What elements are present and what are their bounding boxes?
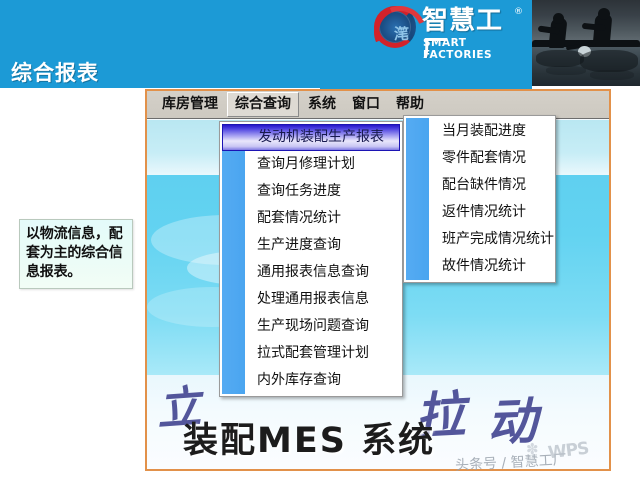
bottom-white-strip xyxy=(0,471,640,480)
menu-item-label: 配台缺件情况 xyxy=(442,177,526,193)
menu-item-label: 故件情况统计 xyxy=(442,258,526,274)
menu-item-production-progress[interactable]: 生产进度查询 xyxy=(222,232,400,259)
rower-left-head-icon xyxy=(553,13,564,24)
menu-item-label: 零件配套情况 xyxy=(442,150,526,166)
menu-item-pull-kitting-plan[interactable]: 拉式配套管理计划 xyxy=(222,340,400,367)
page-title: 综合报表 xyxy=(11,60,99,87)
menu-item-label: 发动机装配生产报表 xyxy=(258,129,384,145)
menu-item-label: 生产现场问题查询 xyxy=(257,318,369,334)
menu-item-label: 查询月修理计划 xyxy=(257,156,355,172)
menu-item-kitting-statistics[interactable]: 配套情况统计 xyxy=(222,205,400,232)
water-reflection xyxy=(536,50,584,67)
app-footer-title: 装配MES 系统 xyxy=(183,421,435,461)
menu-item-label: 内外库存查询 xyxy=(257,372,341,388)
menubar-item-warehouse[interactable]: 库房管理 xyxy=(155,93,225,116)
submenu-item-station-shortage-status[interactable]: 配台缺件情况 xyxy=(406,172,553,199)
menu-item-label: 拉式配套管理计划 xyxy=(257,345,369,361)
water-reflection xyxy=(546,66,586,75)
menu-item-inventory-query[interactable]: 内外库存查询 xyxy=(222,367,400,394)
menu-item-label: 处理通用报表信息 xyxy=(257,291,369,307)
rower-right-head-icon xyxy=(598,8,610,20)
water-reflection xyxy=(580,50,638,72)
submenu-item-shift-output-statistics[interactable]: 班产完成情况统计 xyxy=(406,226,553,253)
submenu-item-list: 当月装配进度 零件配套情况 配台缺件情况 返件情况统计 班产完成情况统计 故件情… xyxy=(406,118,553,280)
submenu-engine-assembly-report: 当月装配进度 零件配套情况 配台缺件情况 返件情况统计 班产完成情况统计 故件情… xyxy=(403,115,556,283)
menu-item-label: 通用报表信息查询 xyxy=(257,264,369,280)
application-window: 立 拉 动 装配MES 系统 库房管理 综合查询 系统 窗口 帮助 发动机装配生… xyxy=(145,89,611,471)
menu-item-label: 查询任务进度 xyxy=(257,183,341,199)
menu-item-engine-assembly-report[interactable]: 发动机装配生产报表 xyxy=(222,124,400,151)
menubar-item-system[interactable]: 系统 xyxy=(301,93,343,116)
rowers-photo xyxy=(532,0,640,86)
menu-item-task-progress[interactable]: 查询任务进度 xyxy=(222,178,400,205)
dropdown-menu-query: 发动机装配生产报表 查询月修理计划 查询任务进度 配套情况统计 生产进度查询 通… xyxy=(219,121,403,397)
menu-item-label: 班产完成情况统计 xyxy=(442,231,554,247)
company-circle-logo-icon: 滗 xyxy=(374,6,416,48)
menu-item-label: 配套情况统计 xyxy=(257,210,341,226)
registered-mark-icon: ® xyxy=(514,7,523,17)
flower-watermark-icon: ✽ xyxy=(526,440,539,458)
brand-logo: 滗 智慧工厂 ® SMART FACTORIES xyxy=(374,4,526,54)
screenshot-root: 滗 智慧工厂 ® SMART FACTORIES 综合报表 立 拉 动 装配ME… xyxy=(0,0,640,480)
menubar-item-query[interactable]: 综合查询 xyxy=(227,92,299,117)
logo-swirl-glyph: 滗 xyxy=(388,23,412,45)
submenu-item-returned-part-statistics[interactable]: 返件情况统计 xyxy=(406,199,553,226)
annotation-text: 以物流信息，配套为主的综合信息报表。 xyxy=(26,225,126,282)
menu-item-general-report-query[interactable]: 通用报表信息查询 xyxy=(222,259,400,286)
submenu-item-part-kitting-status[interactable]: 零件配套情况 xyxy=(406,145,553,172)
rower-right-arm-icon xyxy=(582,23,606,31)
submenu-item-defect-statistics[interactable]: 故件情况统计 xyxy=(406,253,553,280)
menu-item-label: 生产进度查询 xyxy=(257,237,341,253)
menu-item-label: 返件情况统计 xyxy=(442,204,526,220)
menubar-item-help[interactable]: 帮助 xyxy=(389,93,431,116)
top-banner: 滗 智慧工厂 ® SMART FACTORIES 综合报表 xyxy=(0,0,640,89)
menu-item-monthly-repair-plan[interactable]: 查询月修理计划 xyxy=(222,151,400,178)
menu-item-label: 当月装配进度 xyxy=(442,123,526,139)
water-reflection xyxy=(590,70,634,80)
menu-item-list: 发动机装配生产报表 查询月修理计划 查询任务进度 配套情况统计 生产进度查询 通… xyxy=(222,124,400,394)
annotation-callout: 以物流信息，配套为主的综合信息报表。 xyxy=(19,219,133,289)
menu-item-general-report-edit[interactable]: 处理通用报表信息 xyxy=(222,286,400,313)
submenu-item-monthly-assembly-progress[interactable]: 当月装配进度 xyxy=(406,118,553,145)
application-canvas: 立 拉 动 装配MES 系统 库房管理 综合查询 系统 窗口 帮助 发动机装配生… xyxy=(147,91,609,469)
menu-item-shopfloor-issue-query[interactable]: 生产现场问题查询 xyxy=(222,313,400,340)
menubar-item-window[interactable]: 窗口 xyxy=(345,93,387,116)
